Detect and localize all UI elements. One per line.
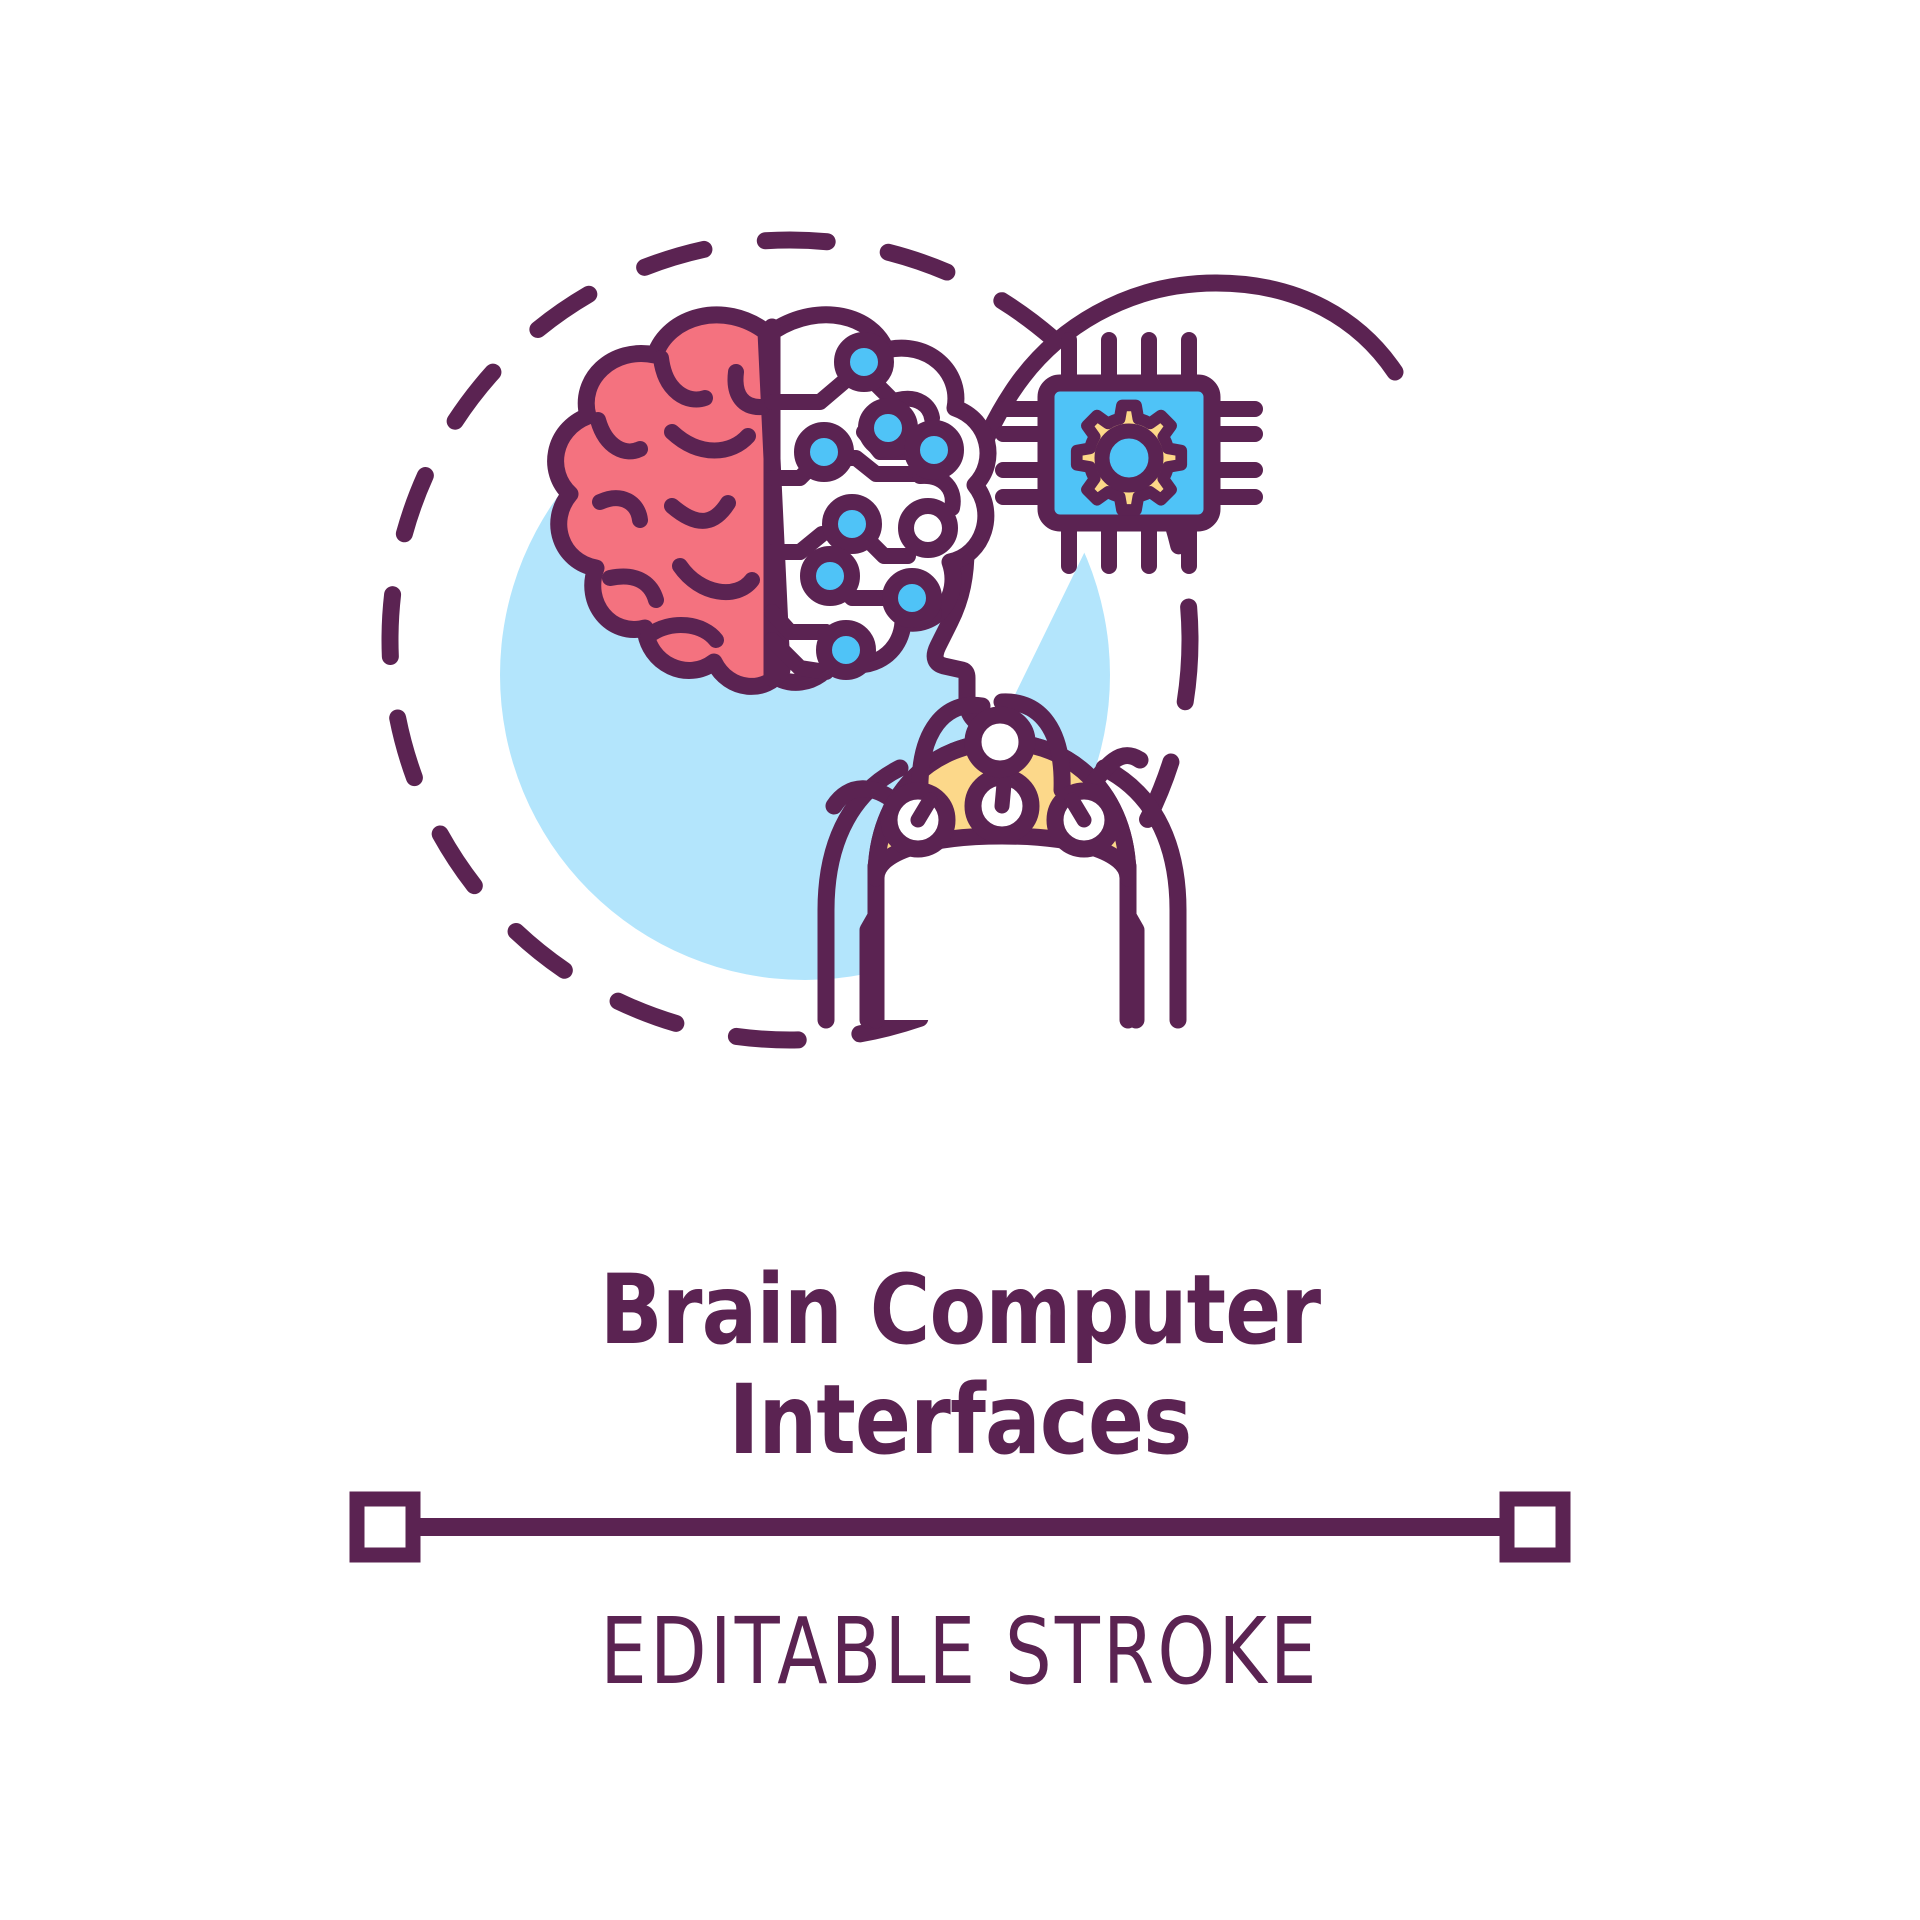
stroke-bar-svg — [0, 1487, 1920, 1567]
title-line-2: Interfaces — [134, 1365, 1785, 1475]
illustration-canvas — [0, 0, 1920, 1300]
circuit-node — [866, 406, 910, 450]
circuit-node — [890, 576, 934, 620]
stroke-bar-right-cap — [1507, 1499, 1563, 1555]
concept-icon-page: Brain Computer Interfaces EDITABLE STROK… — [0, 0, 1920, 1920]
skull-back-line — [1216, 283, 1395, 372]
eeg-electrode-top — [973, 715, 1027, 769]
circuit-node — [808, 554, 852, 598]
circuit-node — [830, 502, 874, 546]
concept-title: Brain Computer Interfaces — [0, 1255, 1920, 1475]
stroke-bar-left-cap — [357, 1499, 413, 1555]
circuit-node — [802, 430, 846, 474]
circuit-node — [912, 428, 956, 472]
head-back-and-neck — [1216, 283, 1330, 840]
circuit-node — [842, 340, 886, 384]
editable-stroke-caption: EDITABLE STROKE — [192, 1598, 1728, 1705]
title-line-1: Brain Computer — [134, 1255, 1785, 1365]
editable-stroke-width-bar — [0, 1487, 1920, 1567]
circuit-node — [824, 628, 868, 672]
gear-icon — [1077, 405, 1182, 510]
circuit-node-hollow — [906, 506, 950, 550]
